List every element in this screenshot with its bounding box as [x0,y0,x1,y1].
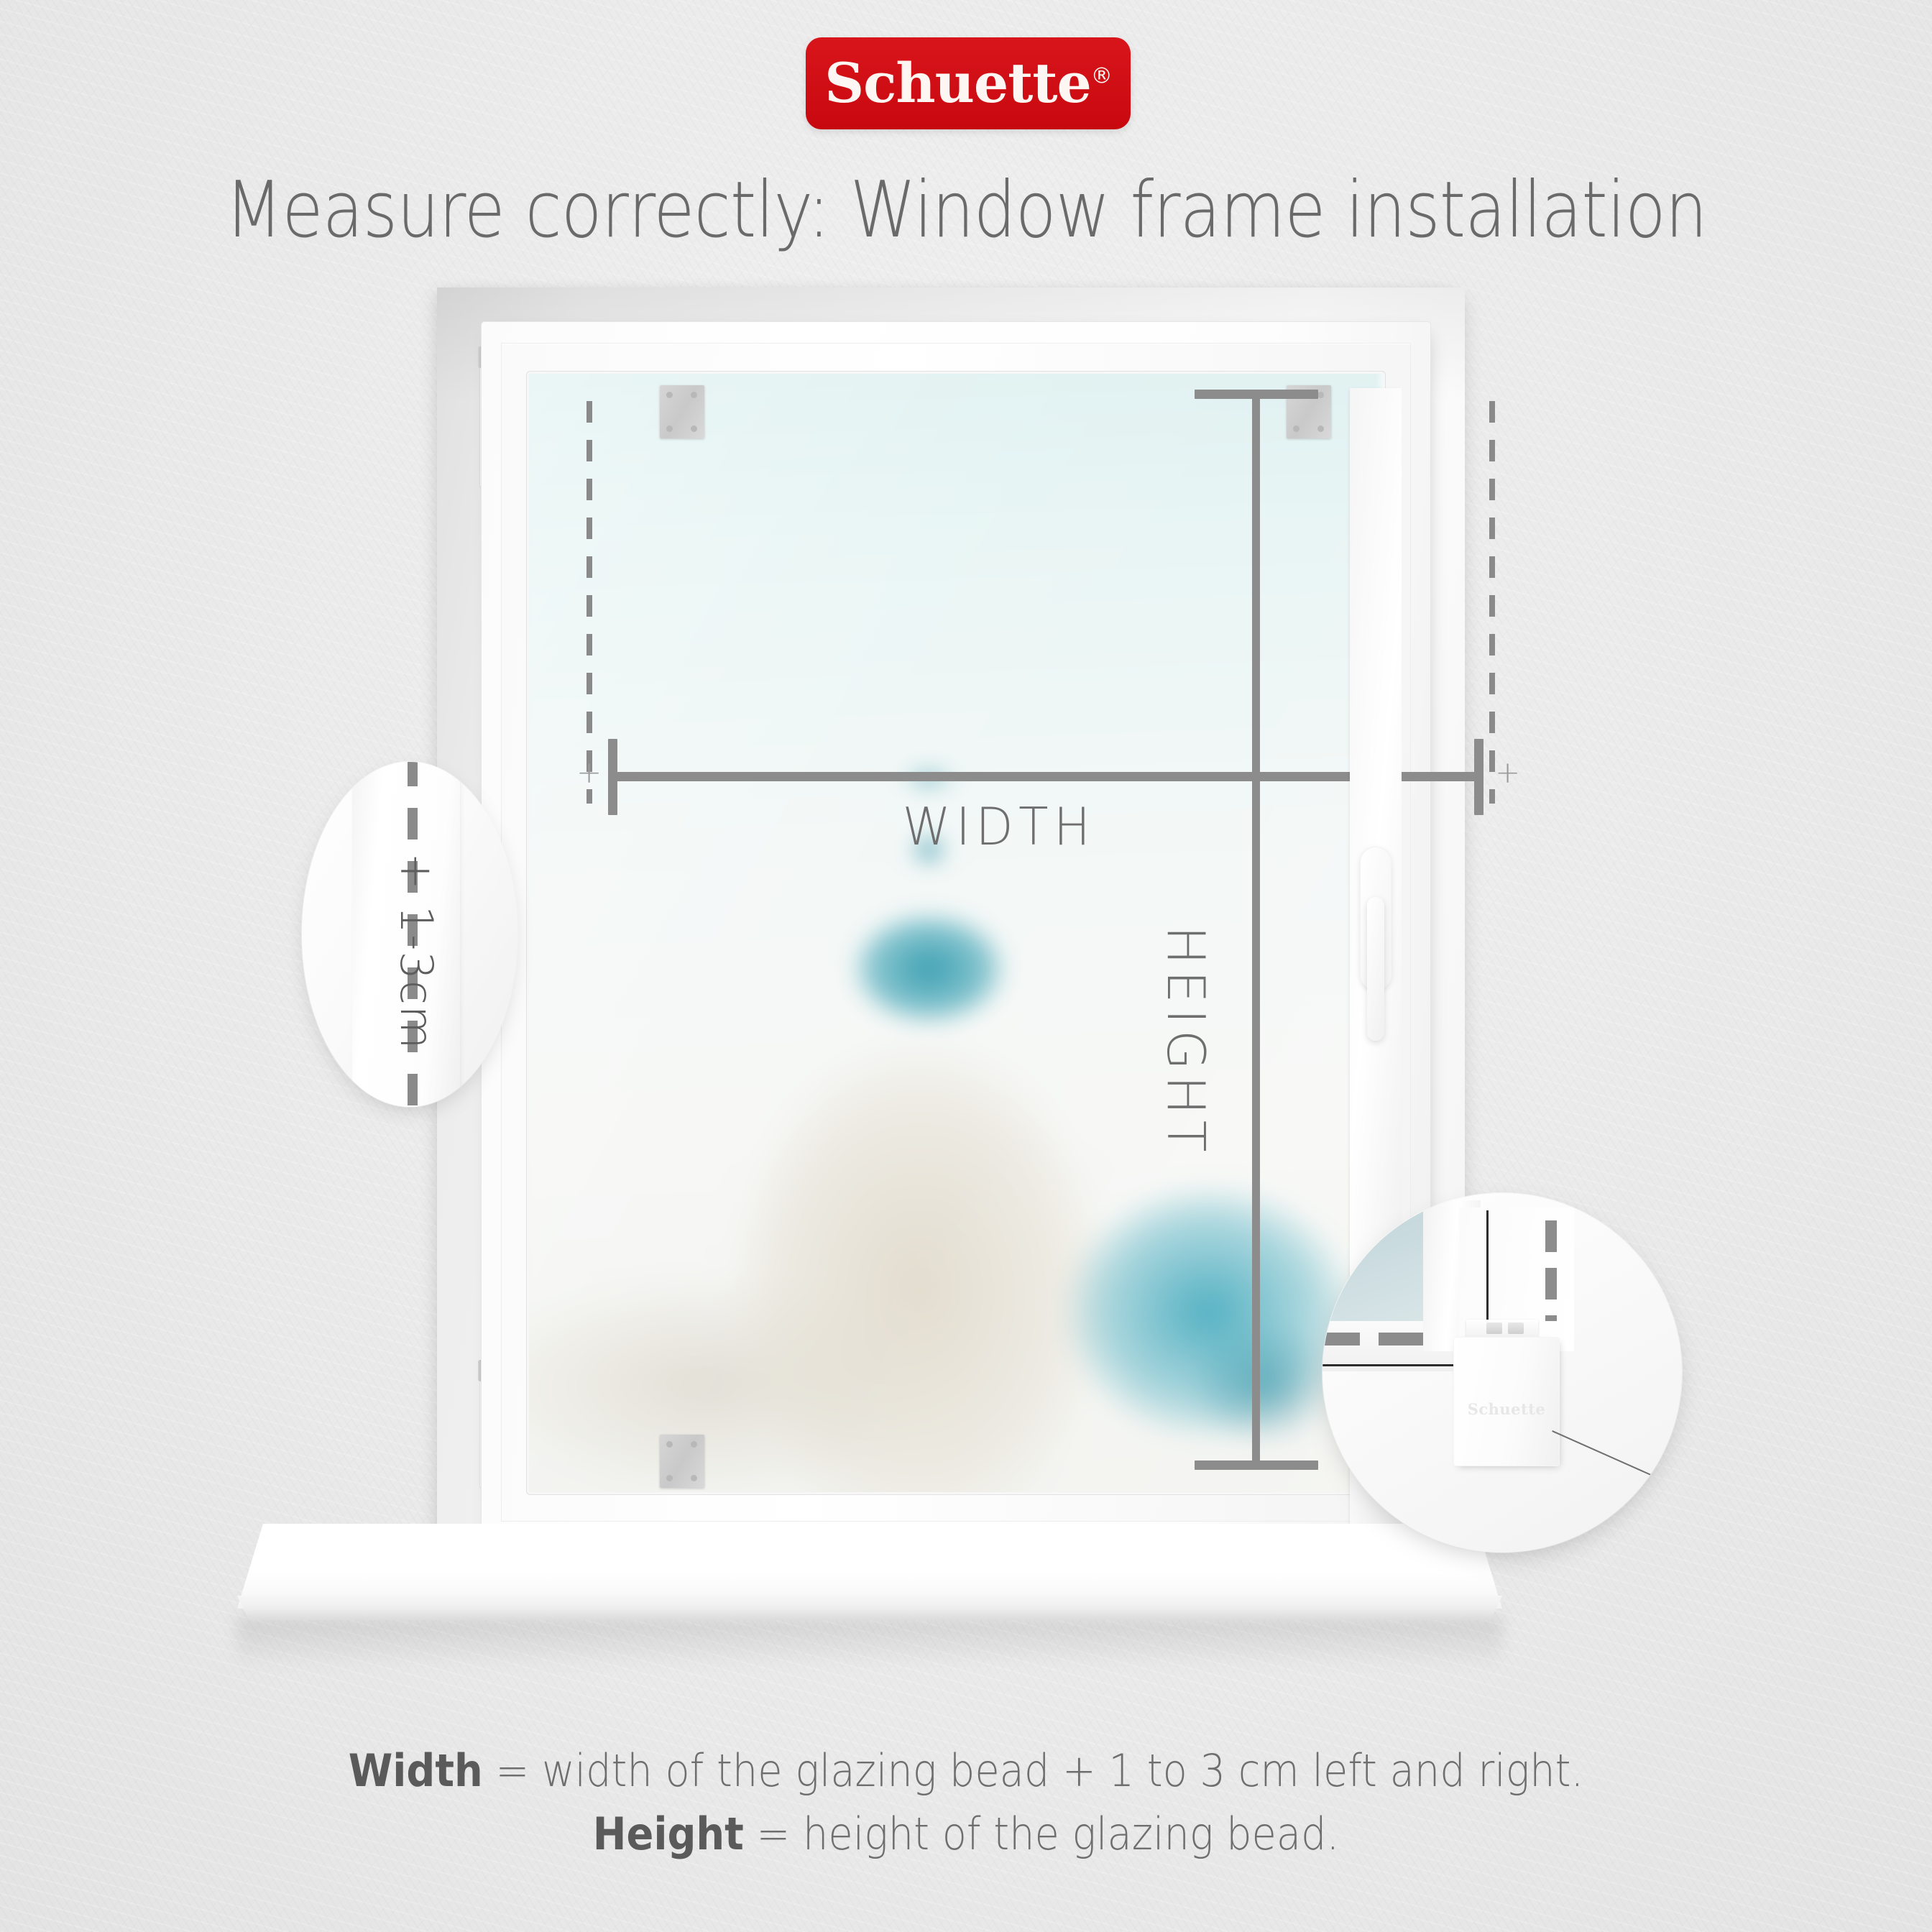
width-label: WIDTH [769,796,1228,857]
height-measure-cap-top [1195,390,1318,399]
callout-leader-line [1552,1430,1677,1487]
clamp-pin-left [1486,1322,1502,1334]
caption-width-desc: = width of the glazing bead + 1 to 3 cm … [483,1744,1584,1797]
magnified-edge-line-horizontal [1322,1364,1460,1366]
caption-block: Width = width of the glazing bead + 1 to… [96,1739,1835,1866]
magnified-dashed-guide-vertical [1545,1220,1557,1321]
caption-height-desc: = height of the glazing bead. [744,1808,1339,1860]
caption-line-width: Width = width of the glazing bead + 1 to… [96,1739,1835,1803]
caption-line-height: Height = height of the glazing bead. [96,1803,1835,1866]
window-sill-shadow [237,1617,1502,1667]
brand-logo-text: Schuette® [824,56,1112,111]
caption-width-term: Width [349,1744,483,1797]
window-handle-lever[interactable] [1367,897,1384,1041]
dashed-guide-right [1489,401,1495,804]
brand-logo-word: Schuette [824,51,1091,115]
width-measure-cap-right [1474,739,1483,815]
height-label: HEIGHT [1156,926,1216,1158]
clamp-brand-text: Schuette [1456,1400,1557,1418]
height-measure-cap-bottom [1195,1460,1318,1470]
mounting-bracket-top-left [660,385,704,438]
magnifier-clearance-callout: + 1-3cm [302,762,517,1107]
plus-marker-left-icon: + [576,758,602,788]
magnified-glass [1322,1205,1427,1327]
dashed-guide-left [586,401,592,804]
mounting-bracket-bottom-left [660,1435,704,1488]
clearance-text: + 1-3cm [390,852,443,1049]
window-frame: + + WIDTH HEIGHT [482,322,1430,1544]
window-sill-front-edge [237,1596,1502,1620]
caption-height-term: Height [593,1808,744,1860]
registered-trademark-icon: ® [1091,64,1112,89]
plus-marker-right-icon: + [1495,758,1520,788]
brand-logo: Schuette® [806,37,1131,129]
width-measure-cap-left [608,739,617,815]
page-title: Measure correctly: Window frame installa… [135,165,1797,255]
magnified-edge-line-vertical [1486,1210,1489,1322]
height-measure-line [1252,394,1260,1469]
clamp-pin-right [1508,1322,1524,1334]
magnifier-bracket-callout: Schuette [1322,1193,1682,1552]
